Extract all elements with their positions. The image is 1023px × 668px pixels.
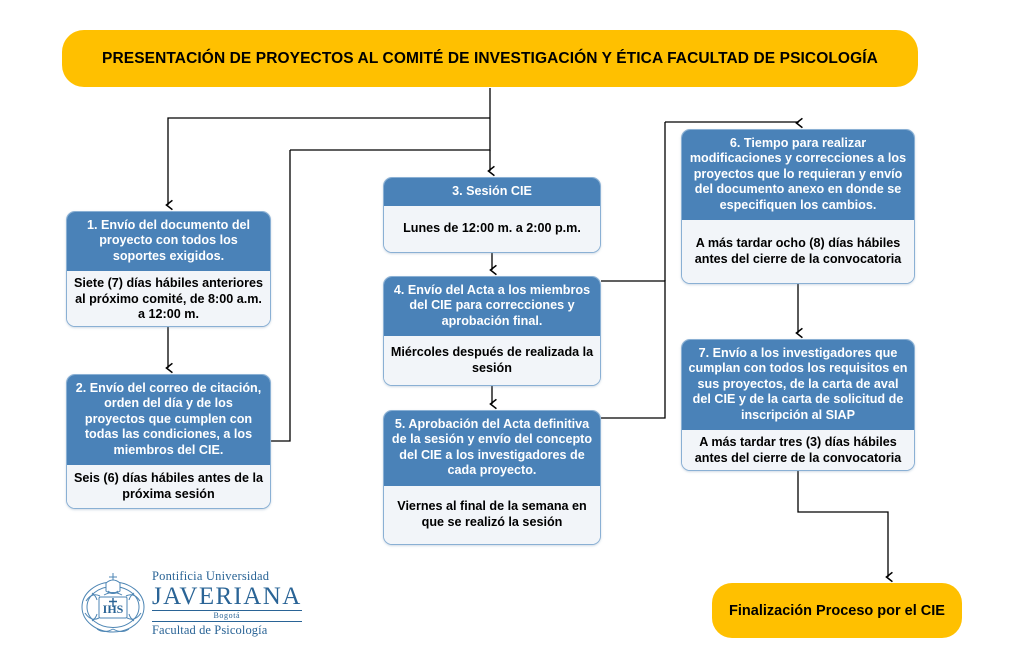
process-box-3[interactable]: 3. Sesión CIE Lunes de 12:00 m. a 2:00 p… xyxy=(383,177,601,253)
javeriana-crest-icon: IHS xyxy=(78,567,148,639)
process-box-4-header: 4. Envío del Acta a los miembros del CIE… xyxy=(384,277,600,336)
logo-line-facultad: Facultad de Psicología xyxy=(152,624,302,637)
process-box-5-header: 5. Aprobación del Acta definitiva de la … xyxy=(384,411,600,486)
university-logo: IHS Pontificia Universidad JAVERIANA Bog… xyxy=(78,563,278,643)
logo-text-block: Pontificia Universidad JAVERIANA Bogotá … xyxy=(152,570,302,636)
process-box-1-header: 1. Envío del documento del proyecto con … xyxy=(67,212,270,271)
process-box-2[interactable]: 2. Envío del correo de citación, orden d… xyxy=(66,374,271,509)
connector-title-to-box3-a xyxy=(290,118,490,150)
process-box-7[interactable]: 7. Envío a los investigadores que cumpla… xyxy=(681,339,915,471)
process-box-1[interactable]: 1. Envío del documento del proyecto con … xyxy=(66,211,271,327)
end-node: Finalización Proceso por el CIE xyxy=(712,583,962,638)
flowchart-canvas: PRESENTACIÓN DE PROYECTOS AL COMITÉ DE I… xyxy=(0,0,1023,668)
process-box-4[interactable]: 4. Envío del Acta a los miembros del CIE… xyxy=(383,276,601,386)
process-box-6[interactable]: 6. Tiempo para realizar modificaciones y… xyxy=(681,129,915,284)
logo-line-bogota: Bogotá xyxy=(152,612,302,622)
process-box-2-header: 2. Envío del correo de citación, orden d… xyxy=(67,375,270,465)
connector-box7-to-end xyxy=(798,471,888,577)
process-box-5-body: Viernes al final de la semana en que se … xyxy=(384,486,600,544)
connector-to-box6 xyxy=(665,122,798,123)
process-box-5[interactable]: 5. Aprobación del Acta definitiva de la … xyxy=(383,410,601,545)
logo-line-javeriana: JAVERIANA xyxy=(152,584,302,611)
process-box-2-body: Seis (6) días hábiles antes de la próxim… xyxy=(67,465,270,508)
process-box-6-body: A más tardar ocho (8) días hábiles antes… xyxy=(682,220,914,283)
process-box-3-body: Lunes de 12:00 m. a 2:00 p.m. xyxy=(384,206,600,252)
process-box-7-body: A más tardar tres (3) días hábiles antes… xyxy=(682,430,914,471)
logo-line-pontificia: Pontificia Universidad xyxy=(152,570,302,583)
process-box-7-header: 7. Envío a los investigadores que cumpla… xyxy=(682,340,914,430)
process-box-6-header: 6. Tiempo para realizar modificaciones y… xyxy=(682,130,914,220)
process-box-3-header: 3. Sesión CIE xyxy=(384,178,600,206)
process-box-4-body: Miércoles después de realizada la sesión xyxy=(384,336,600,385)
connector-box2-to-box3 xyxy=(271,150,290,441)
process-box-1-body: Siete (7) días hábiles anteriores al pró… xyxy=(67,271,270,327)
connector-box4-to-right-column xyxy=(601,281,665,418)
page-title: PRESENTACIÓN DE PROYECTOS AL COMITÉ DE I… xyxy=(62,30,918,87)
